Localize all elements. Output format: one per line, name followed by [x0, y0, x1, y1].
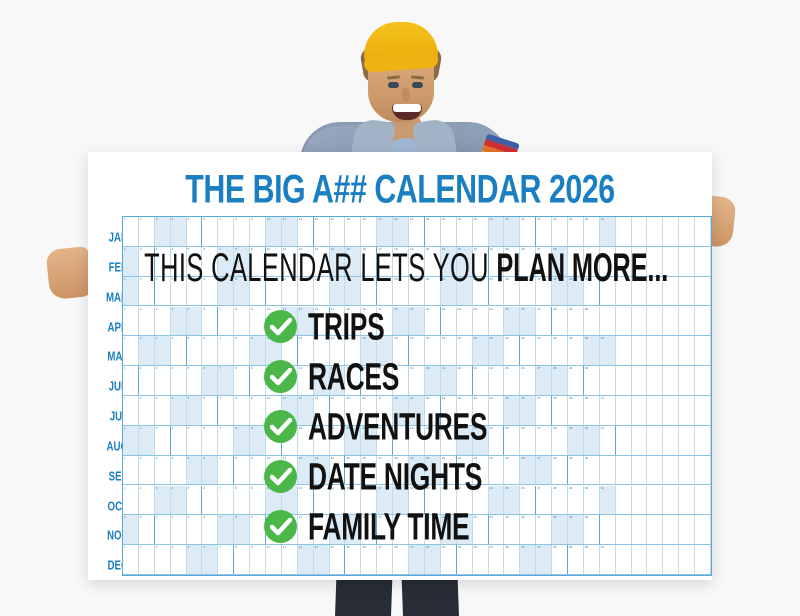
calendar-day-cell: 4 [171, 515, 187, 544]
calendar-day-cell: 7 [218, 486, 234, 515]
day-number: 3 [156, 426, 158, 430]
day-number: 7 [219, 515, 221, 519]
day-number: 4 [172, 217, 174, 221]
calendar-day-cell: 8 [234, 396, 250, 425]
check-icon [264, 410, 297, 443]
calendar-day-cell: 7 [218, 217, 234, 246]
day-number: 6 [203, 336, 205, 340]
day-number: 6 [203, 307, 205, 311]
calendar-day-cell: 2 [139, 486, 155, 515]
day-number: 1 [124, 247, 126, 251]
calendar-day-cell: 2 [139, 307, 155, 336]
day-number: 7 [219, 426, 221, 430]
calendar-day-cell: 11 [282, 217, 298, 246]
calendar-day-cell: 30 [584, 217, 600, 246]
calendar-day-cell: 5 [187, 515, 203, 544]
day-number: 5 [188, 486, 190, 490]
calendar-day-cell: 8 [234, 366, 250, 395]
day-number: 7 [219, 396, 221, 400]
day-number: 4 [172, 396, 174, 400]
day-number: 21 [442, 217, 445, 221]
calendar-day-cell [616, 217, 632, 246]
day-number: 5 [188, 545, 190, 549]
checklist-item-label: TRIPS [308, 306, 384, 350]
calendar-day-cell: 10 [266, 217, 282, 246]
calendar-day-cell: 31 [600, 217, 616, 246]
day-number: 5 [188, 217, 190, 221]
day-number: 8 [235, 336, 237, 340]
calendar-day-cell: 3 [155, 336, 171, 365]
day-number: 8 [235, 396, 237, 400]
day-number: 6 [203, 426, 205, 430]
day-number: 1 [124, 545, 126, 549]
check-icon [264, 310, 297, 343]
day-number: 3 [156, 336, 158, 340]
calendar-day-cell: 4 [171, 366, 187, 395]
calendar-day-cell: 2 [139, 456, 155, 485]
day-number: 5 [188, 396, 190, 400]
calendar-day-cell: 1 [123, 426, 139, 455]
day-number: 7 [219, 307, 221, 311]
calendar-day-cell: 4 [171, 307, 187, 336]
day-number: 5 [188, 426, 190, 430]
day-number: 4 [172, 545, 174, 549]
day-number: 9 [251, 426, 253, 430]
calendar-day-cell: 5 [187, 456, 203, 485]
day-number: 8 [235, 545, 237, 549]
calendar-day-cell [695, 217, 711, 246]
checklist-item: FAMILY TIME [264, 504, 704, 554]
day-number: 7 [219, 366, 221, 370]
day-number: 8 [235, 426, 237, 430]
calendar-day-cell: 1 [123, 486, 139, 515]
eyebrow-right [411, 75, 424, 79]
calendar-day-cell: 22 [457, 217, 473, 246]
calendar-day-cell: 21 [441, 217, 457, 246]
calendar-day-cell: 9 [250, 217, 266, 246]
day-number: 3 [156, 486, 158, 490]
calendar-day-cell: 6 [202, 217, 218, 246]
day-number: 25 [505, 217, 508, 221]
calendar-day-cell: 24 [489, 217, 505, 246]
calendar-day-cell: 17 [377, 217, 393, 246]
day-number: 8 [235, 515, 237, 519]
calendar-day-cell: 5 [187, 426, 203, 455]
day-number: 8 [235, 307, 237, 311]
day-number: 12 [299, 217, 302, 221]
calendar-day-cell: 4 [171, 217, 187, 246]
day-number: 5 [188, 336, 190, 340]
calendar-day-cell: 6 [202, 456, 218, 485]
day-number: 3 [156, 545, 158, 549]
calendar-day-cell: 25 [504, 217, 520, 246]
checklist-item: ADVENTURES [264, 404, 704, 454]
calendar-day-cell: 3 [155, 396, 171, 425]
calendar-day-cell: 1 [123, 366, 139, 395]
calendar-day-cell: 13 [314, 217, 330, 246]
calendar-day-cell: 3 [155, 456, 171, 485]
calendar-day-cell: 2 [139, 545, 155, 574]
day-number: 5 [188, 456, 190, 460]
day-number: 1 [124, 456, 126, 460]
calendar-day-cell: 7 [218, 456, 234, 485]
calendar-day-cell: 8 [234, 456, 250, 485]
checklist-item: DATE NIGHTS [264, 454, 704, 504]
day-number: 4 [172, 307, 174, 311]
calendar-day-cell: 4 [171, 456, 187, 485]
calendar-day-cell: 1 [123, 277, 139, 306]
eye-left [388, 82, 399, 88]
day-number: 9 [251, 366, 253, 370]
calendar-day-cell: 8 [234, 336, 250, 365]
day-number: 14 [331, 217, 334, 221]
day-number: 1 [124, 336, 126, 340]
calendar-day-cell: 19 [409, 217, 425, 246]
calendar-day-cell: 7 [218, 426, 234, 455]
day-number: 1 [124, 217, 126, 221]
calendar-day-cell: 26 [520, 217, 536, 246]
day-number: 2 [140, 545, 142, 549]
calendar-day-cell: 2 [139, 217, 155, 246]
check-icon [264, 460, 297, 493]
day-number: 6 [203, 515, 205, 519]
day-number: 9 [251, 217, 253, 221]
day-number: 2 [140, 486, 142, 490]
day-number: 9 [251, 456, 253, 460]
day-number: 6 [203, 486, 205, 490]
eye-right [412, 82, 423, 88]
calendar-day-cell: 5 [187, 366, 203, 395]
day-number: 2 [140, 366, 142, 370]
day-number: 4 [172, 515, 174, 519]
calendar-day-cell: 7 [218, 515, 234, 544]
calendar-day-cell: 6 [202, 396, 218, 425]
calendar-day-cell: 2 [139, 396, 155, 425]
calendar-day-cell: 1 [123, 396, 139, 425]
day-number: 2 [140, 277, 142, 281]
day-number: 2 [140, 456, 142, 460]
day-number: 30 [585, 217, 588, 221]
calendar-day-cell: 8 [234, 486, 250, 515]
day-number: 4 [172, 336, 174, 340]
nose [402, 88, 410, 102]
day-number: 3 [156, 515, 158, 519]
day-number: 2 [140, 336, 142, 340]
calendar-day-cell: 1 [123, 307, 139, 336]
day-number: 3 [156, 366, 158, 370]
calendar-day-cell: 23 [473, 217, 489, 246]
day-number: 15 [346, 217, 349, 221]
day-number: 9 [251, 336, 253, 340]
teeth [393, 104, 421, 112]
day-number: 8 [235, 366, 237, 370]
calendar-day-cell: 7 [218, 336, 234, 365]
day-number: 7 [219, 336, 221, 340]
day-number: 6 [203, 217, 205, 221]
calendar-day-cell: 6 [202, 545, 218, 574]
day-number: 1 [124, 277, 126, 281]
calendar-day-cell: 1 [123, 336, 139, 365]
headline: THIS CALENDAR LETS YOU PLAN MORE... [144, 245, 656, 292]
benefit-checklist: TRIPSRACESADVENTURESDATE NIGHTSFAMILY TI… [264, 304, 704, 554]
calendar-day-cell [663, 217, 679, 246]
day-number: 2 [140, 247, 142, 251]
calendar-day-cell [679, 217, 695, 246]
calendar-day-cell: 3 [155, 486, 171, 515]
calendar-day-cell: 7 [218, 307, 234, 336]
calendar-day-cell: 6 [202, 486, 218, 515]
day-number: 8 [235, 486, 237, 490]
day-number: 2 [140, 396, 142, 400]
day-number: 3 [156, 217, 158, 221]
calendar-day-cell: 14 [330, 217, 346, 246]
calendar-day-cell: 12 [298, 217, 314, 246]
calendar-day-cell: 1 [123, 515, 139, 544]
calendar-day-cell: 16 [361, 217, 377, 246]
calendar-day-cell: 15 [345, 217, 361, 246]
calendar-poster: THE BIG A## CALENDAR 2026 JANFEBMARAPRMA… [88, 152, 712, 580]
calendar-day-cell: 27 [536, 217, 552, 246]
calendar-day-cell: 6 [202, 515, 218, 544]
calendar-day-cell: 5 [187, 396, 203, 425]
calendar-day-cell: 7 [218, 366, 234, 395]
calendar-day-cell: 5 [187, 486, 203, 515]
day-number: 7 [219, 217, 221, 221]
calendar-day-cell: 8 [234, 515, 250, 544]
day-number: 6 [203, 366, 205, 370]
day-number: 29 [569, 217, 572, 221]
calendar-day-cell: 4 [171, 336, 187, 365]
calendar-day-cell [695, 277, 711, 306]
day-number: 19 [410, 217, 413, 221]
checklist-item-label: DATE NIGHTS [308, 456, 482, 500]
calendar-day-cell: 28 [552, 217, 568, 246]
calendar-day-cell: 7 [218, 396, 234, 425]
calendar-day-cell: 7 [218, 545, 234, 574]
day-number: 8 [235, 217, 237, 221]
day-number: 26 [521, 217, 524, 221]
calendar-day-cell: 1 [123, 217, 139, 246]
day-number: 3 [156, 456, 158, 460]
day-number: 1 [124, 486, 126, 490]
checklist-item-label: FAMILY TIME [308, 506, 469, 550]
day-number: 17 [378, 217, 381, 221]
checklist-item-label: ADVENTURES [308, 406, 487, 450]
eyebrow-left [387, 75, 400, 79]
day-number: 5 [188, 307, 190, 311]
day-number: 4 [172, 426, 174, 430]
day-number: 18 [394, 217, 397, 221]
day-number: 1 [124, 515, 126, 519]
calendar-day-cell: 6 [202, 366, 218, 395]
day-number: 2 [140, 515, 142, 519]
day-number: 1 [124, 366, 126, 370]
mouth-smiling [392, 104, 422, 120]
day-number: 7 [219, 545, 221, 549]
calendar-day-cell: 4 [171, 486, 187, 515]
calendar-day-cell: 8 [234, 426, 250, 455]
day-number: 2 [140, 217, 142, 221]
day-number: 24 [490, 217, 493, 221]
day-number: 9 [251, 545, 253, 549]
calendar-day-cell: 4 [171, 396, 187, 425]
day-number: 9 [251, 396, 253, 400]
day-number: 9 [251, 307, 253, 311]
calendar-day-cell [647, 217, 663, 246]
day-number: 20 [426, 217, 429, 221]
day-number: 6 [203, 396, 205, 400]
day-number: 3 [156, 396, 158, 400]
checklist-item-label: RACES [308, 356, 399, 400]
calendar-row: 1234567891011121314151617181920212223242… [123, 217, 711, 247]
calendar-day-cell: 8 [234, 545, 250, 574]
calendar-day-cell: 3 [155, 426, 171, 455]
day-number: 2 [140, 426, 142, 430]
day-number: 22 [458, 217, 461, 221]
calendar-day-cell: 1 [123, 247, 139, 276]
day-number: 1 [124, 396, 126, 400]
day-number: 10 [267, 217, 270, 221]
calendar-day-cell: 4 [171, 545, 187, 574]
calendar-day-cell: 3 [155, 366, 171, 395]
calendar-day-cell: 5 [187, 307, 203, 336]
calendar-day-cell [695, 247, 711, 276]
day-number: 31 [601, 217, 604, 221]
check-icon [264, 360, 297, 393]
day-number: 4 [172, 456, 174, 460]
calendar-day-cell: 6 [202, 426, 218, 455]
day-number: 8 [235, 456, 237, 460]
calendar-day-cell: 20 [425, 217, 441, 246]
day-number: 1 [124, 307, 126, 311]
day-number: 9 [251, 515, 253, 519]
head [362, 22, 440, 122]
calendar-day-cell: 6 [202, 307, 218, 336]
checklist-item: TRIPS [264, 304, 704, 354]
calendar-day-cell: 2 [139, 515, 155, 544]
check-icon [264, 510, 297, 543]
headline-thin: THIS CALENDAR LETS YOU [144, 245, 496, 291]
day-number: 3 [156, 307, 158, 311]
calendar-day-cell: 29 [568, 217, 584, 246]
calendar-day-cell: 3 [155, 515, 171, 544]
calendar-day-cell: 1 [123, 456, 139, 485]
calendar-day-cell: 3 [155, 217, 171, 246]
poster-inner: THE BIG A## CALENDAR 2026 JANFEBMARAPRMA… [88, 152, 712, 580]
calendar-day-cell: 4 [171, 426, 187, 455]
day-number: 4 [172, 486, 174, 490]
day-number: 28 [553, 217, 556, 221]
day-number: 11 [283, 217, 286, 221]
calendar-day-cell [679, 277, 695, 306]
calendar-day-cell: 8 [234, 217, 250, 246]
calendar-day-cell: 8 [234, 307, 250, 336]
calendar-day-cell: 2 [139, 426, 155, 455]
calendar-day-cell [679, 247, 695, 276]
day-number: 7 [219, 486, 221, 490]
calendar-day-cell: 2 [139, 336, 155, 365]
day-number: 6 [203, 545, 205, 549]
day-number: 5 [188, 515, 190, 519]
calendar-day-cell: 5 [187, 545, 203, 574]
day-number: 5 [188, 366, 190, 370]
scene-root: THE BIG A## CALENDAR 2026 JANFEBMARAPRMA… [0, 0, 800, 616]
calendar-day-cell: 1 [123, 545, 139, 574]
calendar-day-cell: 3 [155, 545, 171, 574]
day-number: 2 [140, 307, 142, 311]
day-number: 4 [172, 366, 174, 370]
day-number: 23 [474, 217, 477, 221]
checklist-item: RACES [264, 354, 704, 404]
calendar-day-cell [632, 217, 648, 246]
day-number: 9 [251, 486, 253, 490]
day-number: 7 [219, 456, 221, 460]
calendar-day-cell: 5 [187, 336, 203, 365]
calendar-day-cell: 5 [187, 217, 203, 246]
calendar-day-cell: 18 [393, 217, 409, 246]
calendar-day-cell: 6 [202, 336, 218, 365]
day-number: 16 [362, 217, 365, 221]
day-number: 6 [203, 456, 205, 460]
day-number: 1 [124, 426, 126, 430]
day-number: 13 [315, 217, 318, 221]
calendar-day-cell: 3 [155, 307, 171, 336]
calendar-day-cell: 2 [139, 366, 155, 395]
headline-bold: PLAN MORE... [496, 245, 668, 291]
day-number: 27 [537, 217, 540, 221]
page-title: THE BIG A## CALENDAR 2026 [113, 166, 687, 212]
